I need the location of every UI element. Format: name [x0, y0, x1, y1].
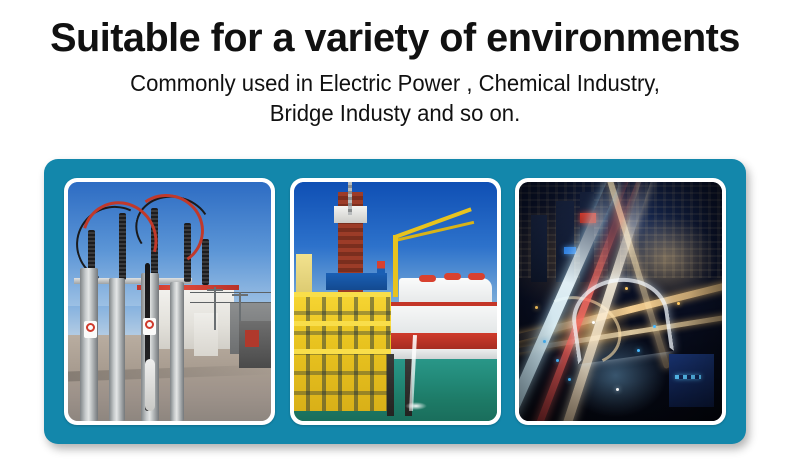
equipment-red-marker [245, 330, 259, 347]
photo-card-substation[interactable] [64, 178, 275, 425]
page-title: Suitable for a variety of environments [4, 16, 786, 60]
photo-city-interchange [519, 182, 722, 421]
subtitle-line-2: Bridge Industy and so on. [16, 98, 774, 128]
power-line-lower [190, 302, 271, 303]
photo-oil-rig [294, 182, 497, 421]
photo-card-city-interchange[interactable] [515, 178, 726, 425]
cable-termination [145, 359, 155, 412]
steel-pole-4 [170, 282, 184, 421]
photo-substation [68, 182, 271, 421]
power-line-upper [190, 292, 271, 293]
vessel-white-hull [383, 349, 497, 359]
steel-pole-2 [109, 278, 125, 421]
warning-sign-1 [84, 321, 97, 338]
crane-mast [393, 235, 398, 297]
lifeboat-2 [444, 273, 461, 280]
transmission-tower-1 [214, 287, 216, 330]
lifeboat-3 [468, 273, 485, 280]
vignette-overlay [519, 182, 722, 421]
page-subtitle: Commonly used in Electric Power , Chemic… [16, 68, 774, 128]
platform-deck-3 [294, 349, 391, 354]
steel-pole-1 [80, 268, 98, 421]
environment-photo-gallery [44, 159, 746, 444]
warning-sign-2 [143, 318, 156, 335]
blue-drill-floor [326, 273, 387, 290]
water-splash [405, 402, 427, 410]
antenna-mast [348, 182, 352, 215]
platform-deck-2 [294, 321, 391, 326]
lifeboat-1 [419, 275, 436, 282]
platform-leg-1 [387, 354, 394, 416]
subtitle-line-1: Commonly used in Electric Power , Chemic… [130, 70, 660, 96]
platform-funnel [377, 261, 385, 275]
banner-page: Suitable for a variety of environments C… [0, 0, 790, 461]
platform-deck-1 [294, 292, 391, 297]
photo-card-oil-rig[interactable] [290, 178, 501, 425]
